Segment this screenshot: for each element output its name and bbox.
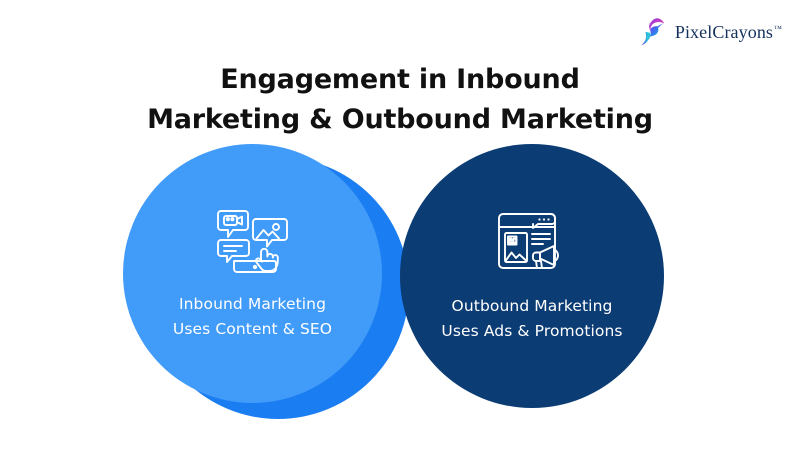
venn-circle-inbound[interactable]: Inbound Marketing Uses Content & SEO: [123, 144, 382, 403]
venn-label-inbound-line-1: Inbound Marketing: [173, 292, 332, 317]
venn-label-outbound: Outbound Marketing Uses Ads & Promotions: [441, 294, 622, 344]
venn-label-inbound: Inbound Marketing Uses Content & SEO: [173, 292, 332, 342]
venn-label-inbound-line-2: Uses Content & SEO: [173, 317, 332, 342]
venn-diagram: Inbound Marketing Uses Content & SEO: [0, 0, 800, 472]
ad-megaphone-icon: [495, 208, 569, 276]
venn-label-outbound-line-1: Outbound Marketing: [441, 294, 622, 319]
content-media-icon: [216, 206, 290, 274]
venn-label-outbound-line-2: Uses Ads & Promotions: [441, 319, 622, 344]
venn-circle-outbound[interactable]: Outbound Marketing Uses Ads & Promotions: [400, 144, 664, 408]
